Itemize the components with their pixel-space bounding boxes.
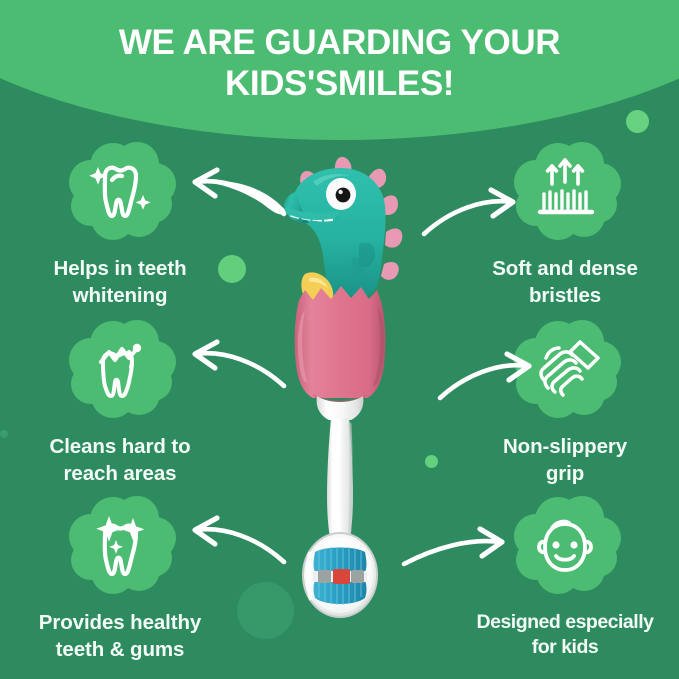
feature-label: Provides healthy teeth & gums — [10, 610, 230, 663]
dino-figure — [284, 157, 402, 296]
page-title-line2: KIDS'SMILES! — [60, 63, 619, 104]
tooth-brushing-icon — [61, 318, 179, 424]
feature-label: Non-slippery grip — [455, 434, 675, 487]
dinosaur-kids-toothbrush-image — [255, 140, 435, 615]
feature-label-line2: for kids — [532, 636, 598, 658]
page-title-line1: WE ARE GUARDING YOUR — [119, 23, 560, 62]
arrow-right-grip-icon — [436, 352, 541, 408]
feature-label: Cleans hard to reach areas — [10, 434, 230, 487]
feature-label-line1: Helps in teeth — [53, 257, 186, 280]
decor-dot-edge-left — [0, 430, 8, 438]
feature-label-line2: whitening — [73, 284, 168, 307]
feature-label-line2: grip — [546, 462, 584, 485]
page-title: WE ARE GUARDING YOUR KIDS'SMILES! — [0, 22, 679, 105]
feature-label-line2: bristles — [529, 284, 601, 307]
feature-helps-in-teeth-whitening: Helps in teeth whitening — [10, 140, 230, 309]
tooth-shine-icon — [61, 494, 179, 600]
tooth-sparkle-icon — [61, 140, 179, 246]
feature-label-line1: Cleans hard to — [50, 435, 191, 458]
feature-label-line2: teeth & gums — [56, 638, 185, 661]
decor-dot-top-right — [626, 110, 649, 133]
feature-label-line1: Provides healthy — [39, 611, 201, 634]
feature-label: Designed especially for kids — [455, 610, 675, 661]
feature-label-line2: reach areas — [64, 462, 177, 485]
arrow-right-bristles-icon — [420, 188, 525, 244]
baby-face-icon — [506, 494, 624, 600]
feature-label-line1: Designed especially — [477, 611, 654, 633]
promo-infographic-stage: WE ARE GUARDING YOUR KIDS'SMILES! — [0, 0, 679, 679]
feature-label: Helps in teeth whitening — [10, 256, 230, 309]
egg-body — [295, 286, 386, 406]
brush-head — [303, 533, 377, 617]
feature-label: Soft and dense bristles — [455, 256, 675, 309]
feature-label-line1: Soft and dense — [492, 257, 638, 280]
feature-label-line1: Non-slippery — [503, 435, 627, 458]
